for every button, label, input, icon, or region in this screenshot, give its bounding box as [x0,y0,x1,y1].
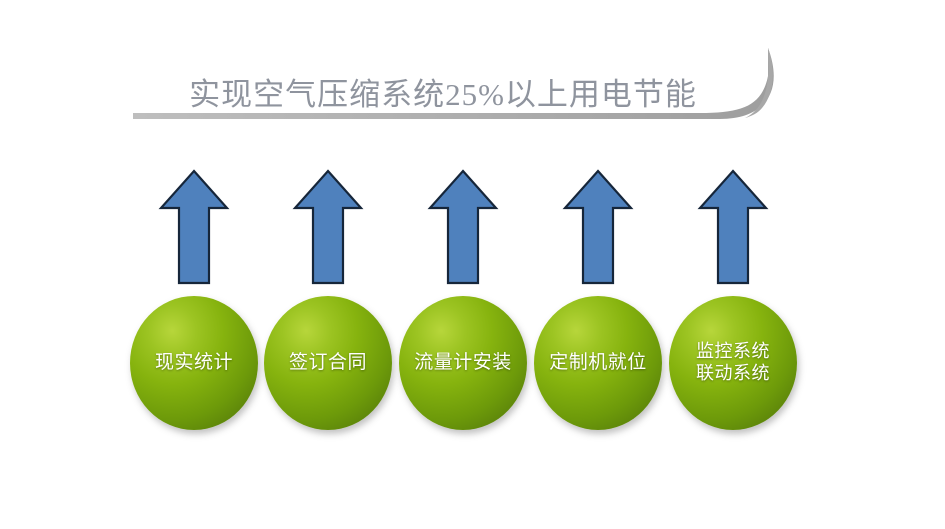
step-node-5[interactable]: 监控系统 联动系统 [669,296,797,430]
slide-canvas: 实现空气压缩系统25%以上用电节能 现实统计 签订合同 [0,0,945,529]
process-step-2[interactable]: 签订合同 [260,168,396,430]
step-node-2[interactable]: 签订合同 [264,296,392,430]
step-node-label: 定制机就位 [545,351,651,374]
step-node-label: 签订合同 [285,351,371,374]
up-arrow-icon [562,168,634,286]
process-step-3[interactable]: 流量计安装 [395,168,531,430]
up-arrow-icon [158,168,230,286]
process-step-5[interactable]: 监控系统 联动系统 [665,168,801,430]
step-node-label: 现实统计 [151,351,237,374]
process-step-1[interactable]: 现实统计 [126,168,262,430]
up-arrow-icon [697,168,769,286]
step-node-label: 流量计安装 [410,351,516,374]
up-arrow-icon [292,168,364,286]
step-node-label: 监控系统 联动系统 [692,341,774,385]
process-steps-row: 现实统计 签订合同 流量计安装 [0,0,945,529]
step-node-3[interactable]: 流量计安装 [399,296,527,430]
up-arrow-icon [427,168,499,286]
process-step-4[interactable]: 定制机就位 [530,168,666,430]
step-node-4[interactable]: 定制机就位 [534,296,662,430]
step-node-1[interactable]: 现实统计 [130,296,258,430]
